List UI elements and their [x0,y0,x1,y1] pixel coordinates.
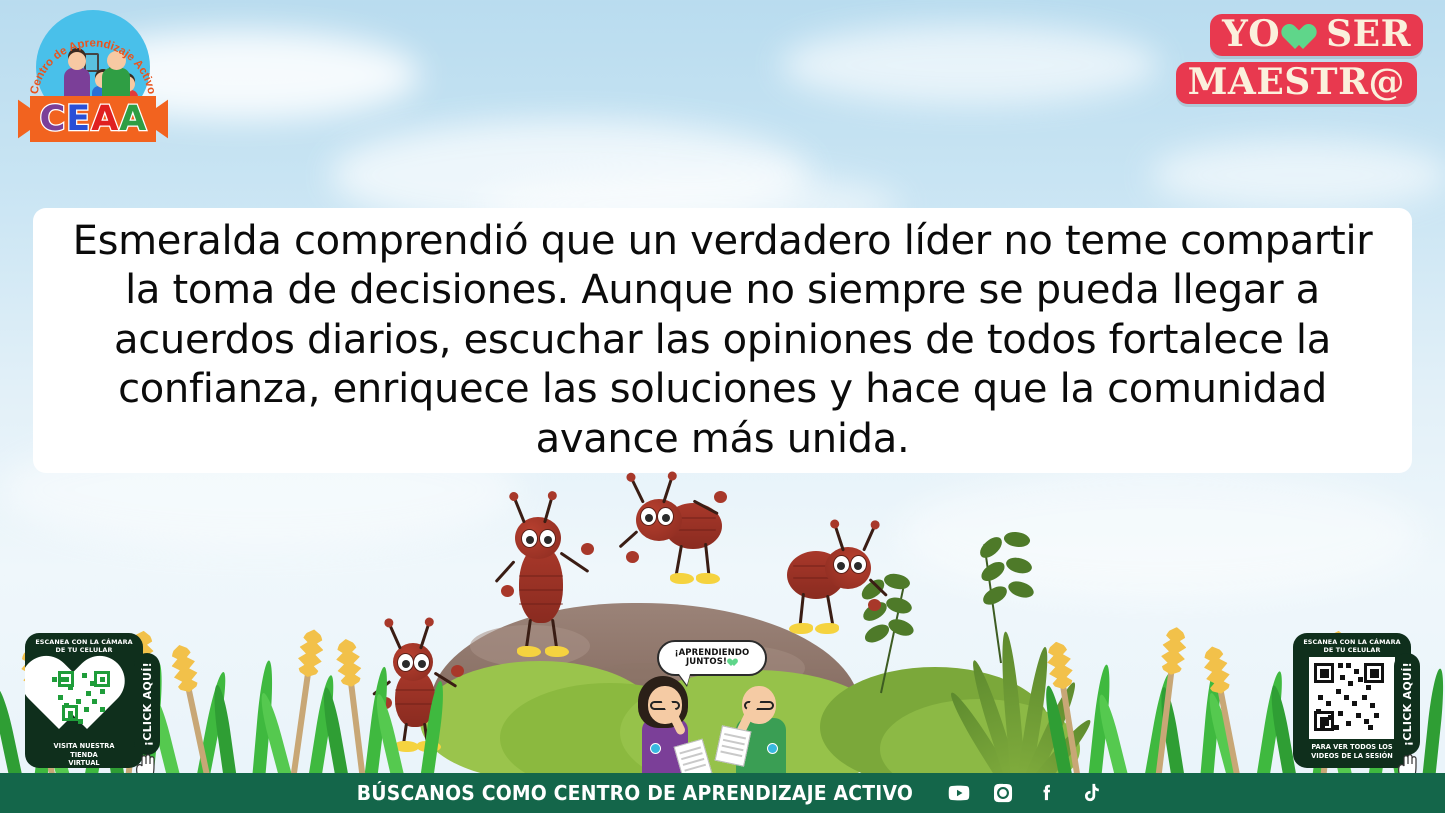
qr-right-footer: PARA VER TODOS LOS VIDEOS DE LA SESIÓN [1298,743,1406,760]
badge-word-yo: YO [1222,16,1280,54]
teacher-female-pin [650,743,661,754]
qr-right-footer-2: VIDEOS DE LA SESIÓN [1298,752,1406,761]
ant-character [765,531,875,641]
qr-right-footer-1: PARA VER TODOS LOS [1298,743,1406,752]
teachers-illustration [626,680,796,780]
qr-card-store[interactable]: ESCANEA CON LA CÁMARA DE TU CELULAR VISI [25,633,143,768]
click-here-label: ¡CLICK AQUÍ! [1401,662,1414,746]
badge-line-2: MAESTR@ [1176,62,1417,104]
youtube-icon[interactable] [944,778,974,808]
footer-bar: BÚSCANOS COMO CENTRO DE APRENDIZAJE ACTI… [0,773,1445,813]
footer-text: BÚSCANOS COMO CENTRO DE APRENDIZAJE ACTI… [356,781,912,805]
qr-right-code[interactable] [1306,655,1398,741]
ant-character [630,485,740,595]
qr-left-footer-3: VIRTUAL [30,759,138,768]
yo-ser-maestro-badge: YO SER MAESTR@ [1191,14,1423,114]
qr-finder [58,671,74,687]
cloud-decoration [1150,140,1445,210]
qr-left-caption: ESCANEA CON LA CÁMARA DE TU CELULAR [32,638,136,654]
ceaa-letter-a2: A [119,102,146,137]
badge-word-ser: SER [1326,16,1411,54]
qr-left-modules [38,655,130,740]
badge-word-maestro: MAESTR@ [1188,64,1405,102]
qr-finder [1364,663,1384,683]
ceaa-letter-a1: A [91,102,118,137]
facebook-icon[interactable] [1032,778,1062,808]
qr-finder [94,671,110,687]
qr-finder [1314,711,1334,731]
ceaa-logo: Centro de Aprendizaje Activo C E A A [18,8,168,143]
ceaa-letter-e: E [66,102,90,137]
main-body-text: Esmeralda comprendió que un verdadero lí… [59,217,1386,465]
main-text-card: Esmeralda comprendió que un verdadero lí… [33,208,1412,473]
speech-bubble-line-2-wrap: JUNTOS! [686,658,738,667]
teacher-male-pin [767,743,778,754]
ceaa-arc-label: Centro de Aprendizaje Activo [29,38,158,96]
qr-left-footer-2: TIENDA [30,751,138,760]
qr-left-code[interactable] [38,655,130,740]
qr-left-footer-1: VISITA NUESTRA [30,742,138,751]
speech-bubble: ¡APRENDIENDO JUNTOS! [657,640,767,676]
heart-icon [1288,23,1318,51]
click-here-tab-right[interactable]: ¡CLICK AQUÍ! [1394,653,1420,755]
ceaa-letter-c: C [40,102,66,137]
ant-character [505,503,595,653]
qr-left-footer: VISITA NUESTRA TIENDA VIRTUAL [30,742,138,768]
speech-bubble-line-2: JUNTOS! [686,658,727,667]
cloud-decoration [780,25,1160,105]
click-here-label: ¡CLICK AQUÍ! [141,662,154,746]
badge-line-1: YO SER [1210,14,1423,56]
instagram-icon[interactable] [988,778,1018,808]
ceaa-banner: C E A A [18,96,168,142]
qr-finder [1314,663,1334,683]
qr-right-caption: ESCANEA CON LA CÁMARA DE TU CELULAR [1300,638,1404,654]
svg-text:Centro de Aprendizaje Activo: Centro de Aprendizaje Activo [29,38,158,96]
click-here-tab-left[interactable]: ¡CLICK AQUÍ! [134,653,160,755]
tiktok-icon[interactable] [1076,778,1106,808]
heart-icon [729,658,738,666]
qr-finder [62,705,78,721]
